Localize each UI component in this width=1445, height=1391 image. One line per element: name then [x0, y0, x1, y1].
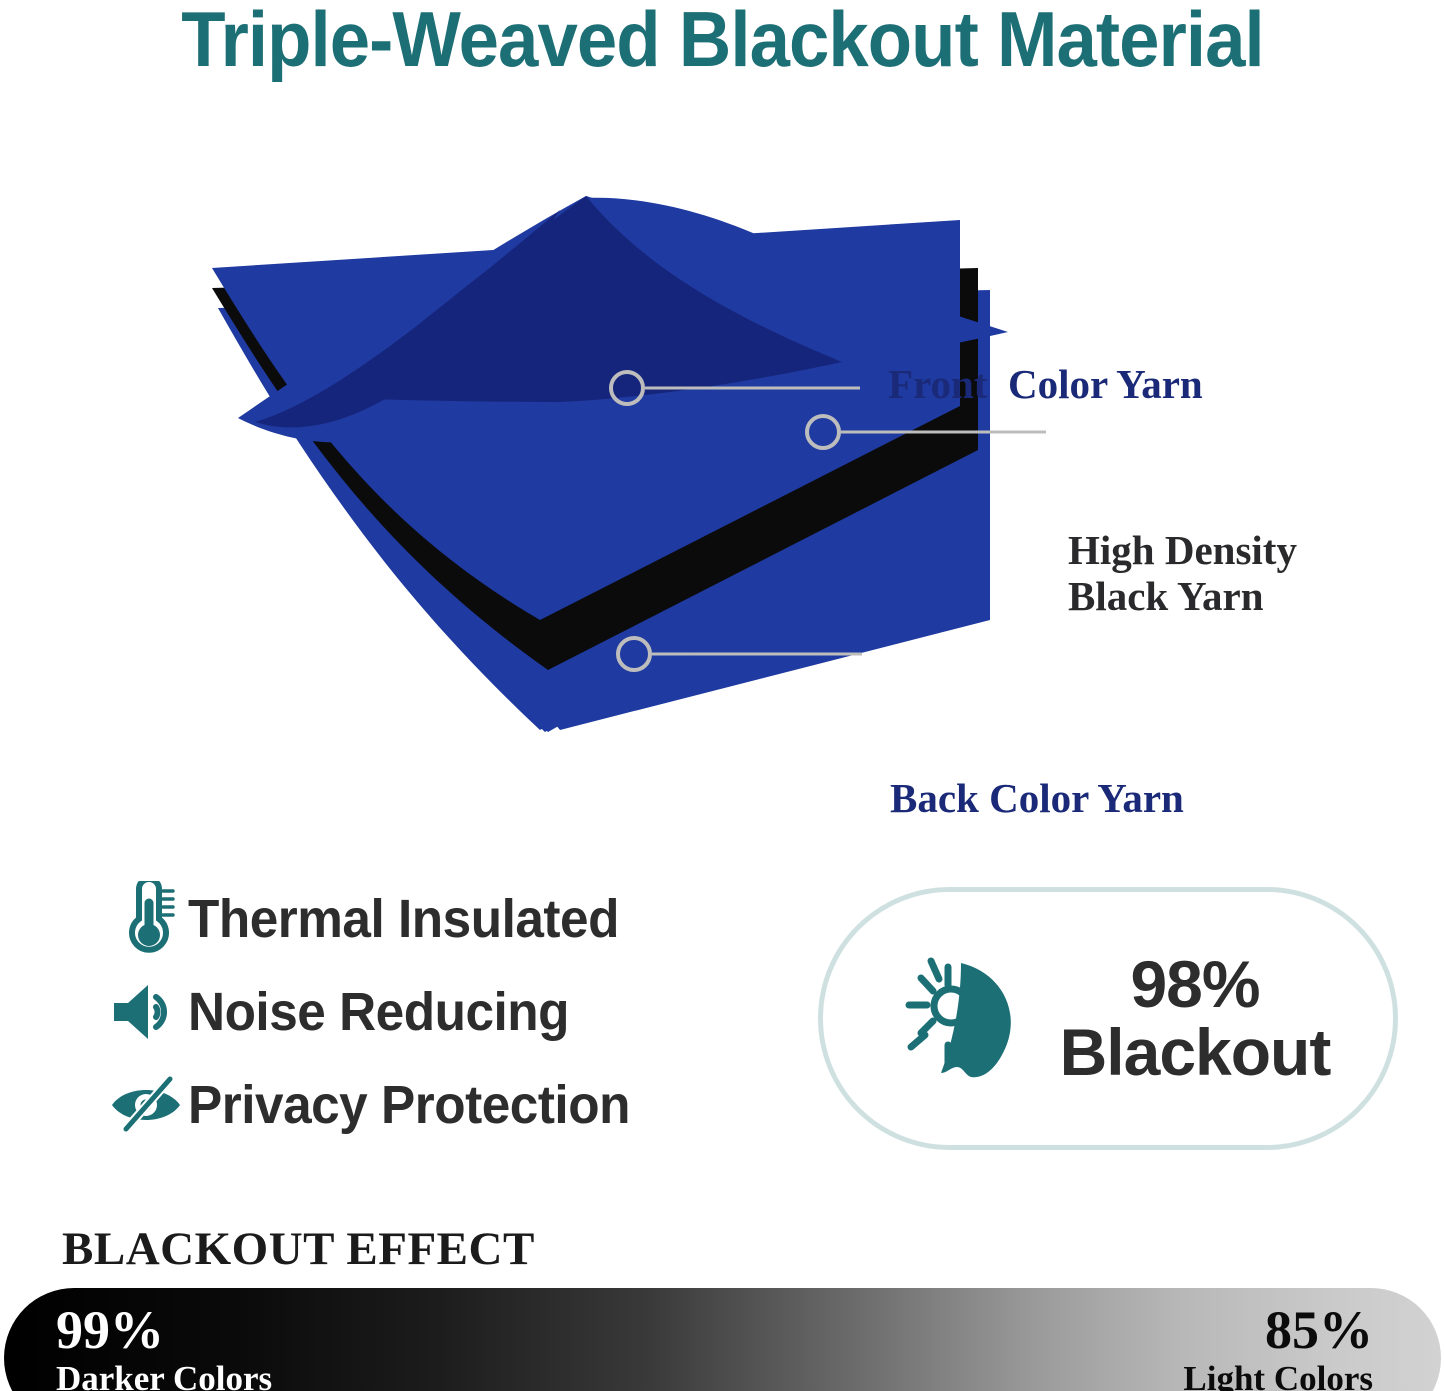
thermometer-icon	[104, 881, 188, 957]
callout-label-front-color-yarn: Front Color Yarn	[888, 362, 1203, 408]
blackout-effect-heading: BLACKOUT EFFECT	[62, 1222, 535, 1276]
blackout-effect-left-stat: 99% Darker Colors	[56, 1303, 272, 1391]
callout-label-back-color-yarn: Back Color Yarn	[890, 776, 1184, 822]
right-sublabel: Light Colors	[1183, 1361, 1373, 1391]
feature-item-privacy-protection: Privacy Protection	[104, 1058, 764, 1151]
blackout-badge: 98% Blackout	[818, 887, 1398, 1150]
badge-text-block: 98% Blackout	[1060, 951, 1331, 1086]
blackout-effect-right-stat: 85% Light Colors	[1183, 1303, 1373, 1391]
badge-word: Blackout	[1060, 1019, 1331, 1086]
callout-label-high-density-black-yarn: High Density Black Yarn	[1068, 528, 1297, 620]
feature-label: Thermal Insulated	[188, 888, 619, 950]
right-percent: 85%	[1183, 1303, 1373, 1357]
infographic-page: Triple-Weaved Blackout Material	[0, 0, 1445, 1391]
feature-item-thermal-insulated: Thermal Insulated	[104, 872, 764, 965]
badge-percent: 98%	[1060, 951, 1331, 1018]
speaker-icon	[104, 979, 188, 1045]
page-title: Triple-Weaved Blackout Material	[51, 0, 1395, 85]
fabric-layers-diagram: Front Color Yarn High Density Black Yarn…	[0, 150, 1445, 770]
eye-slash-icon	[104, 1075, 188, 1135]
feature-label: Noise Reducing	[188, 981, 569, 1043]
feature-label: Privacy Protection	[188, 1074, 630, 1136]
feature-item-noise-reducing: Noise Reducing	[104, 965, 764, 1058]
left-sublabel: Darker Colors	[56, 1361, 272, 1391]
features-list: Thermal Insulated Noise Reducing	[104, 872, 764, 1151]
sun-blocked-icon	[886, 945, 1046, 1093]
left-percent: 99%	[56, 1303, 272, 1357]
